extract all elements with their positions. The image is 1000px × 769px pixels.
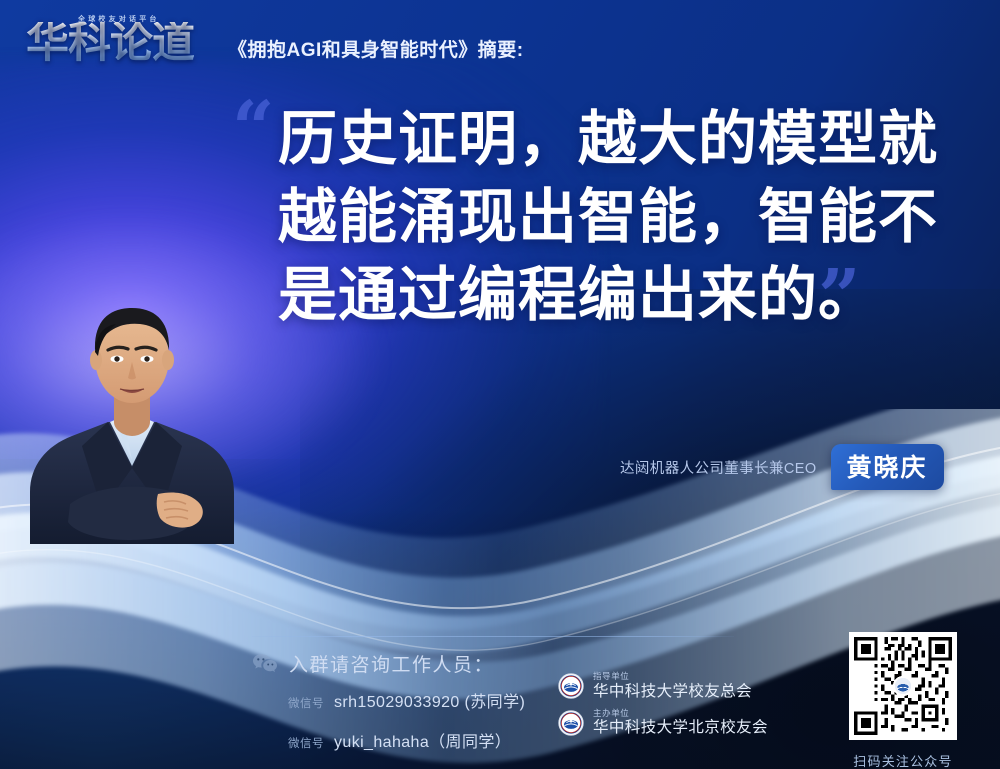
quote-line: 历史证明，越大的模型就 [278, 100, 958, 178]
organization-row: 指导单位 华中科技大学校友总会 [558, 672, 768, 701]
speaker-name-badge: 黄晓庆 [831, 444, 944, 490]
organization-name: 华中科技大学北京校友会 [593, 719, 768, 737]
organization-text: 指导单位 华中科技大学校友总会 [593, 672, 752, 701]
quote-open-mark: “ [232, 92, 275, 166]
brand-logo-text: 华科论道 [26, 22, 194, 65]
speaker-attribution: 达闼机器人公司董事长兼CEO 黄晓庆 [620, 444, 944, 490]
contact-label: 微信号 [288, 735, 324, 751]
contact-value[interactable]: yuki_hahaha（周同学） [334, 728, 511, 752]
header: 全球校友对话平台 华科论道 《拥抱AGI和具身智能时代》摘要: [26, 14, 524, 68]
university-seal-icon [558, 710, 584, 736]
wechat-icon [252, 653, 278, 675]
organization-kind: 指导单位 [593, 672, 752, 682]
quote-line: 是通过编程编出来的。 [278, 256, 958, 334]
qr-code-icon [854, 637, 952, 735]
contact-label: 微信号 [288, 695, 324, 711]
poster-canvas: 全球校友对话平台 华科论道 《拥抱AGI和具身智能时代》摘要: “ ” 历史证明… [0, 0, 1000, 769]
organization-row: 主办单位 华中科技大学北京校友会 [558, 709, 768, 738]
speaker-role: 达闼机器人公司董事长兼CEO [620, 457, 817, 478]
footer-divider [252, 636, 734, 637]
qr-code-frame[interactable] [849, 632, 957, 740]
quote-text: 历史证明，越大的模型就 越能涌现出智能，智能不 是通过编程编出来的。 [278, 100, 958, 334]
qr-caption: 扫码关注公众号 [841, 751, 965, 769]
qr-code-block: 扫码关注公众号 [841, 632, 965, 769]
brand-logo[interactable]: 全球校友对话平台 华科论道 [26, 14, 214, 68]
organization-kind: 主办单位 [593, 709, 768, 719]
footer-heading: 入群请咨询工作人员： [289, 650, 494, 677]
organization-name: 华中科技大学校友总会 [593, 683, 752, 701]
quote-line: 越能涌现出智能，智能不 [278, 178, 958, 256]
organizations: 指导单位 华中科技大学校友总会 主办单位 华中科技大学北京校友会 [558, 672, 768, 745]
university-seal-icon [558, 673, 584, 699]
speaker-portrait [28, 296, 236, 544]
organization-text: 主办单位 华中科技大学北京校友会 [593, 709, 768, 738]
page-title: 《拥抱AGI和具身智能时代》摘要: [228, 35, 524, 68]
contact-value[interactable]: srh15029033920 (苏同学) [334, 688, 525, 712]
